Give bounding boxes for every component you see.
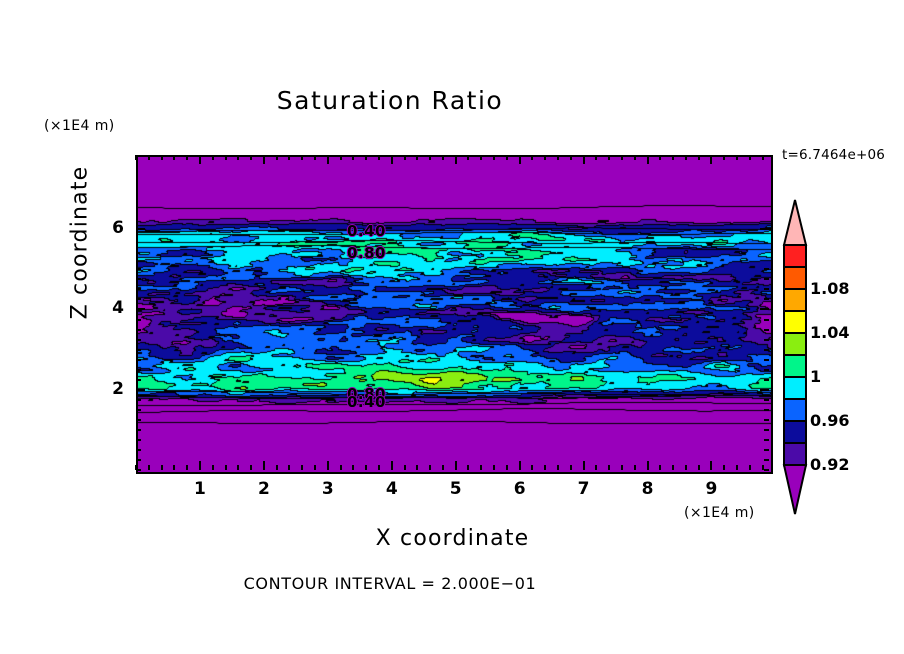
colorbar-band <box>784 311 806 333</box>
colorbar-tick-label: 1.08 <box>810 279 849 298</box>
colorbar-bottom-arrow <box>784 465 806 514</box>
x-axis-tick-label: 7 <box>569 479 599 499</box>
colorbar-band <box>784 399 806 421</box>
colorbar-band <box>784 421 806 443</box>
colorbar-band <box>784 289 806 311</box>
colorbar-tick-label: 0.96 <box>810 411 849 430</box>
y-axis-tick-label: 6 <box>98 218 124 238</box>
x-axis-tick-label: 2 <box>249 479 279 499</box>
colorbar-band <box>784 355 806 377</box>
y-axis-tick-label: 4 <box>98 298 124 318</box>
colorbar-band <box>784 245 806 267</box>
colorbar: 1.081.0410.960.92 <box>776 196 904 521</box>
colorbar-band <box>784 333 806 355</box>
colorbar-top-arrow <box>784 200 806 245</box>
axis-number-layer: 123456789246 <box>0 0 904 654</box>
colorbar-tick-label: 0.92 <box>810 455 849 474</box>
colorbar-band <box>784 377 806 399</box>
colorbar-band <box>784 443 806 465</box>
y-axis-title: Z coordinate <box>68 143 93 343</box>
x-axis-tick-label: 5 <box>441 479 471 499</box>
x-axis-tick-label: 4 <box>377 479 407 499</box>
colorbar-tick-label: 1.04 <box>810 323 849 342</box>
y-axis-tick-label: 2 <box>98 379 124 399</box>
colorbar-band <box>784 267 806 289</box>
x-axis-tick-label: 8 <box>633 479 663 499</box>
x-axis-tick-label: 6 <box>505 479 535 499</box>
x-axis-tick-label: 1 <box>185 479 215 499</box>
x-axis-tick-label: 9 <box>696 479 726 499</box>
colorbar-tick-label: 1 <box>810 367 821 386</box>
contour-interval-note: CONTOUR INTERVAL = 2.000E−01 <box>0 574 780 593</box>
x-axis-tick-label: 3 <box>313 479 343 499</box>
x-axis-title: X coordinate <box>136 526 769 551</box>
